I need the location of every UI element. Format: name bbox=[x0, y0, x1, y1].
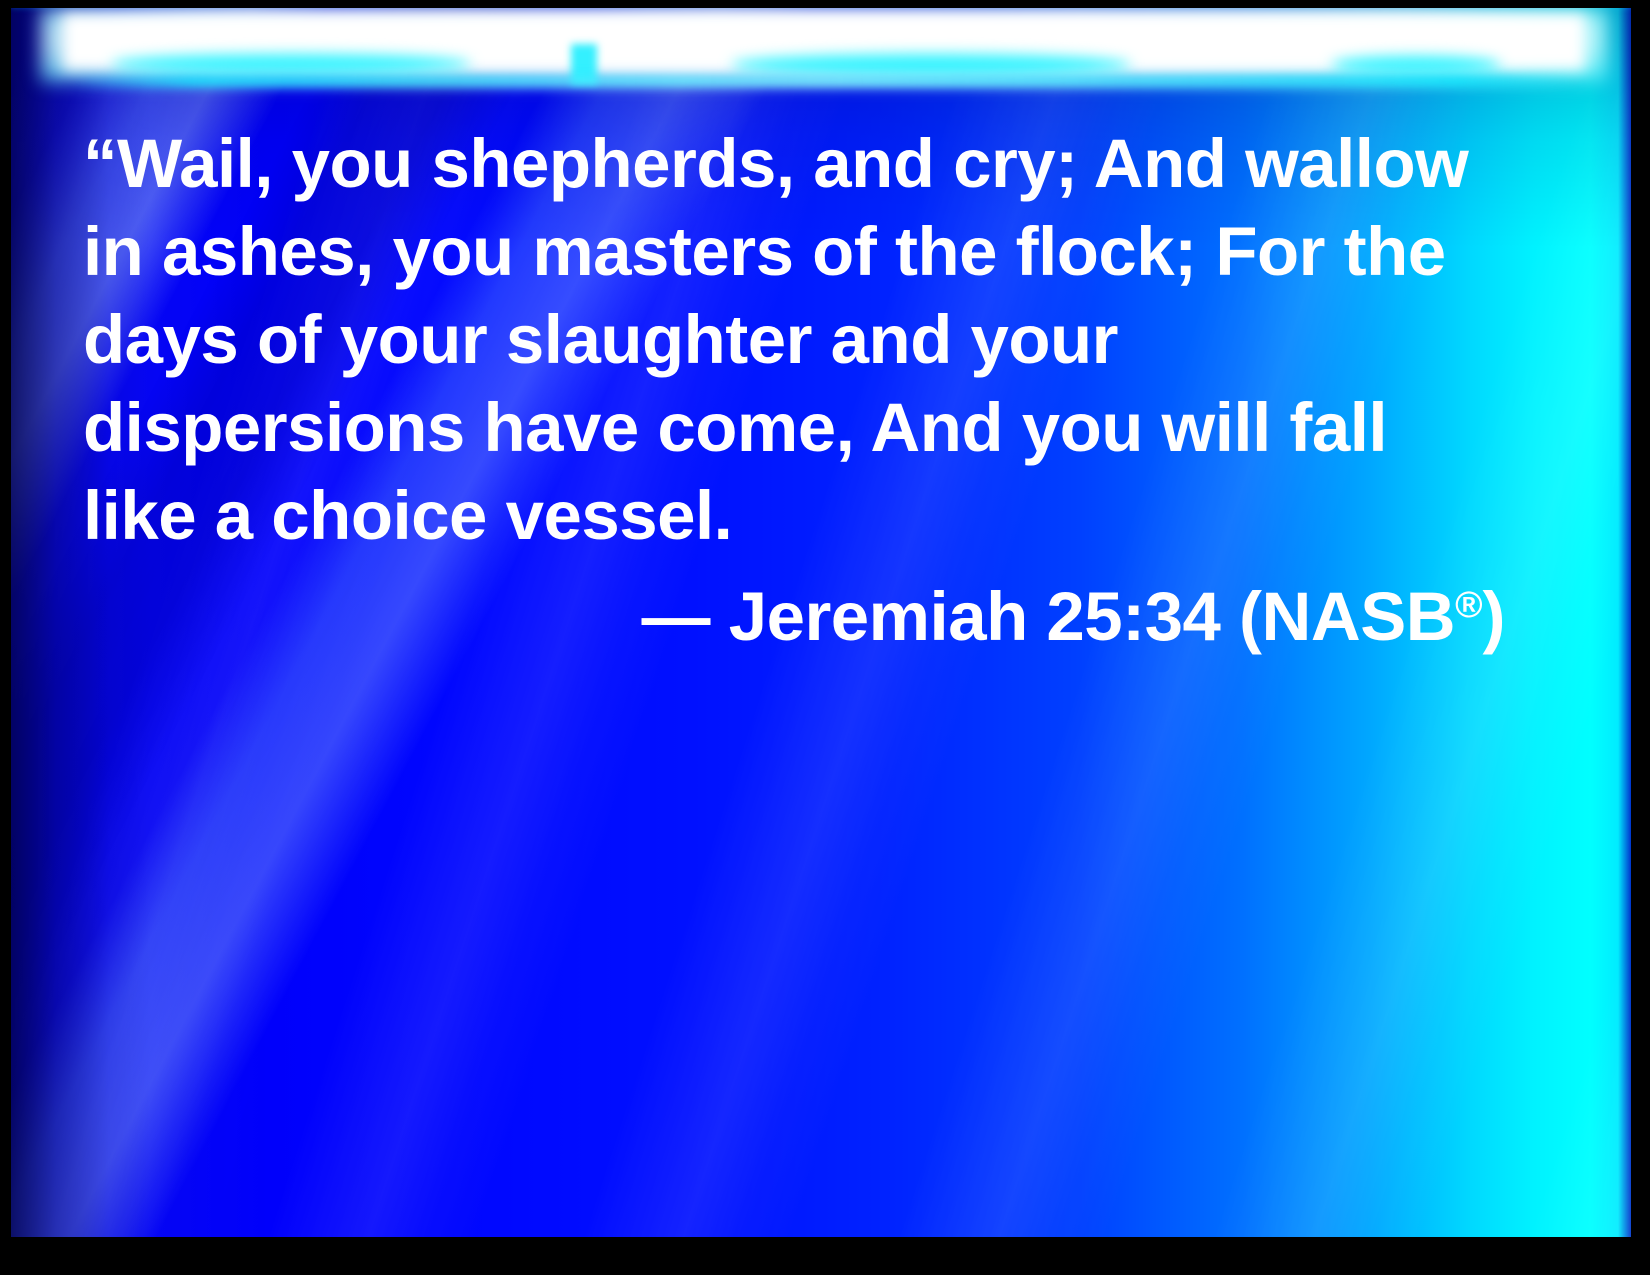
attribution-reference: 25:34 bbox=[1046, 578, 1220, 655]
attribution-book: Jeremiah bbox=[729, 578, 1028, 655]
attribution-version-close: ) bbox=[1483, 578, 1505, 655]
attribution-version-open: (NASB bbox=[1220, 578, 1455, 655]
attribution-dash: — bbox=[642, 578, 729, 655]
scripture-slide: “Wail, you shepherds, and cry; And wallo… bbox=[0, 0, 1650, 1275]
header-glow-band bbox=[11, 8, 1631, 96]
verse-attribution: — Jeremiah 25:34 (NASB®) bbox=[83, 560, 1513, 661]
slide-background-artwork: “Wail, you shepherds, and cry; And wallo… bbox=[11, 8, 1631, 1237]
registered-trademark-icon: ® bbox=[1455, 583, 1482, 625]
header-cyan-wisp-center bbox=[731, 54, 1131, 76]
attribution-space bbox=[1028, 578, 1047, 655]
header-cyan-wisp-right bbox=[1331, 56, 1501, 74]
scripture-text-block: “Wail, you shepherds, and cry; And wallo… bbox=[83, 120, 1513, 661]
verse-body-text: “Wail, you shepherds, and cry; And wallo… bbox=[83, 120, 1513, 560]
header-cyan-wisp-left bbox=[111, 54, 471, 74]
header-cyan-underline bbox=[71, 76, 1579, 86]
